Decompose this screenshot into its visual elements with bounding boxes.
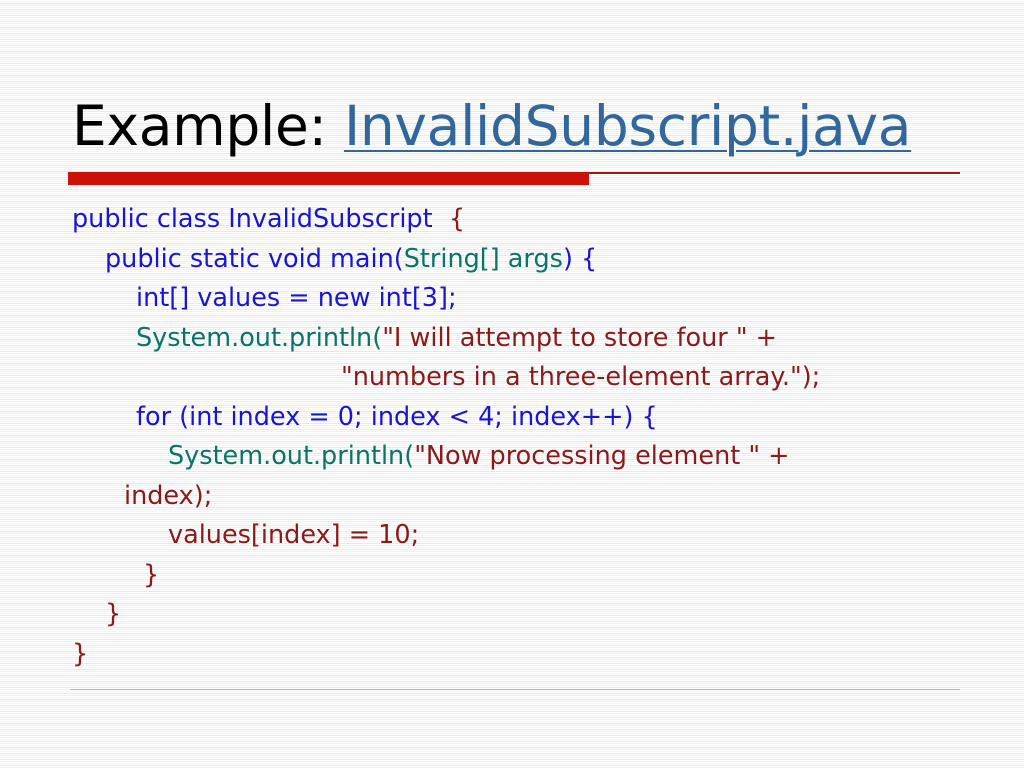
- code-token: values[index] = 10;: [168, 520, 419, 550]
- code-token: "I will attempt to store four " +: [382, 323, 777, 353]
- code-token: }: [105, 599, 121, 629]
- line-assign: values[index] = 10;: [0, 516, 1024, 556]
- code-token: "numbers in a three-element array.");: [341, 362, 820, 392]
- code-token: for (int index = 0; index < 4; index++) …: [136, 402, 658, 432]
- line-println-intro-cont: "numbers in a three-element array.");: [0, 358, 1024, 398]
- code-token: public static void main(: [105, 244, 404, 274]
- code-token: {: [449, 204, 465, 234]
- code-token: ) {: [563, 244, 597, 274]
- code-token: }: [143, 560, 159, 590]
- slide-title-block: Example: InvalidSubscript.java: [72, 96, 972, 168]
- line-close-main: }: [0, 595, 1024, 635]
- page-title-static-text: Example:: [72, 94, 344, 158]
- code-token: System.out.println(: [136, 323, 382, 353]
- line-for-loop: for (int index = 0; index < 4; index++) …: [0, 398, 1024, 438]
- code-token: String[] args: [404, 244, 563, 274]
- line-close-class: }: [0, 635, 1024, 675]
- footer-divider-rule: [70, 689, 960, 690]
- line-class-decl: public class InvalidSubscript {: [0, 200, 1024, 240]
- code-token: "Now processing element " +: [414, 441, 789, 471]
- line-println-element-wrap: index);: [0, 477, 1024, 517]
- line-println-element: System.out.println("Now processing eleme…: [0, 437, 1024, 477]
- line-array-decl: int[] values = new int[3];: [0, 279, 1024, 319]
- title-underline-accent-bar: [68, 172, 589, 185]
- code-token: System.out.println(: [168, 441, 414, 471]
- presentation-slide: Example: InvalidSubscript.java public cl…: [0, 0, 1024, 768]
- page-title: Example: InvalidSubscript.java: [72, 96, 972, 156]
- code-token: public class InvalidSubscript: [72, 204, 449, 234]
- code-token: }: [72, 639, 88, 669]
- line-main-decl: public static void main(String[] args) {: [0, 240, 1024, 280]
- code-token: int[] values = new int[3];: [136, 283, 457, 313]
- java-code-listing: public class InvalidSubscript {public st…: [0, 200, 1024, 674]
- code-token: index);: [124, 481, 212, 511]
- line-close-for: }: [0, 556, 1024, 596]
- invalidsubscript-java-link[interactable]: InvalidSubscript.java: [344, 94, 911, 158]
- line-println-intro: System.out.println("I will attempt to st…: [0, 319, 1024, 359]
